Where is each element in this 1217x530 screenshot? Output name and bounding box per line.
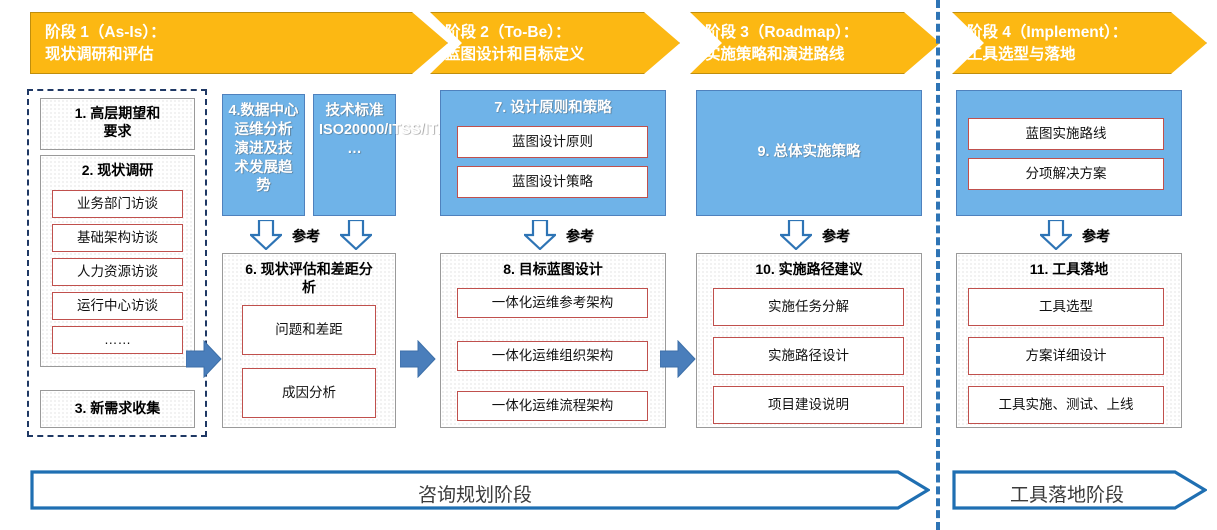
- box-11-title: 11. 工具落地: [957, 254, 1181, 279]
- connector-arrow-1: [186, 340, 222, 378]
- connector-arrow-3: [660, 340, 696, 378]
- box-2-item-3[interactable]: 运行中心访谈: [52, 292, 183, 320]
- box-2-item-2[interactable]: 人力资源访谈: [52, 258, 183, 286]
- box-4: 4.数据中心运维分析演进及技术发展趋势: [222, 94, 305, 216]
- phase-4-line1: 阶段 4（Implement）：: [967, 22, 1206, 44]
- connector-arrow-2: [400, 340, 436, 378]
- box-4-title: 4.数据中心运维分析演进及技术发展趋势: [223, 95, 304, 196]
- ref-down-arrow-col2-left: [250, 220, 282, 250]
- process-diagram: 阶段 1（As-Is）： 现状调研和评估 阶段 2（To-Be）： 蓝图设计和目…: [0, 0, 1217, 530]
- box-6-item-1[interactable]: 成因分析: [242, 368, 376, 418]
- phase-3-line1: 阶段 3（Roadmap）：: [705, 22, 939, 44]
- phase-divider: [936, 0, 940, 530]
- box-6-title: 6. 现状评估和差距分析: [223, 254, 395, 296]
- box-11-item-0[interactable]: 工具选型: [968, 288, 1164, 326]
- ref-label-col5: 参考: [1082, 226, 1110, 246]
- box-10-item-0[interactable]: 实施任务分解: [713, 288, 904, 326]
- box-7-title: 7. 设计原则和策略: [441, 91, 665, 118]
- ref-label-col4: 参考: [822, 226, 850, 246]
- phase-3-line2: 实施策略和演进路线: [705, 44, 939, 66]
- bottom-banner-right-label: 工具落地阶段: [1010, 480, 1124, 507]
- box-10-item-1[interactable]: 实施路径设计: [713, 337, 904, 375]
- phase-2-line1: 阶段 2（To-Be）：: [445, 22, 679, 44]
- ref-down-arrow-col3: [524, 220, 556, 250]
- box-8-item-0[interactable]: 一体化运维参考架构: [457, 288, 648, 318]
- phase-4-line2: 工具选型与落地: [967, 44, 1206, 66]
- box-3: 3. 新需求收集: [40, 390, 195, 428]
- phase-banner-3: 阶段 3（Roadmap）： 实施策略和演进路线: [690, 12, 940, 74]
- box-2-item-0[interactable]: 业务部门访谈: [52, 190, 183, 218]
- ref-down-arrow-col2-right: [340, 220, 372, 250]
- box-blueprint-implementation: [956, 90, 1182, 216]
- box-7-item-0[interactable]: 蓝图设计原则: [457, 126, 648, 158]
- box-6-item-0[interactable]: 问题和差距: [242, 305, 376, 355]
- phase-1-line1: 阶段 1（As-Is）：: [45, 22, 447, 44]
- box-9-title: 9. 总体实施策略: [697, 91, 921, 162]
- box-11-item-1[interactable]: 方案详细设计: [968, 337, 1164, 375]
- phase-banner-4: 阶段 4（Implement）： 工具选型与落地: [952, 12, 1207, 74]
- ref-label-col2: 参考: [292, 226, 320, 246]
- box-2-item-1[interactable]: 基础架构访谈: [52, 224, 183, 252]
- box-8-title: 8. 目标蓝图设计: [441, 254, 665, 279]
- box-1: 1. 高层期望和 要求: [40, 98, 195, 150]
- phase-banner-2: 阶段 2（To-Be）： 蓝图设计和目标定义: [430, 12, 680, 74]
- blueprint-impl-item-0[interactable]: 蓝图实施路线: [968, 118, 1164, 150]
- bottom-banner-left-label: 咨询规划阶段: [418, 480, 532, 507]
- phase-1-line2: 现状调研和评估: [45, 44, 447, 66]
- box-8-item-1[interactable]: 一体化运维组织架构: [457, 341, 648, 371]
- box-1-title: 1. 高层期望和 要求: [41, 99, 194, 140]
- phase-2-line2: 蓝图设计和目标定义: [445, 44, 679, 66]
- box-7-item-1[interactable]: 蓝图设计策略: [457, 166, 648, 198]
- phase-banner-1: 阶段 1（As-Is）： 现状调研和评估: [30, 12, 448, 74]
- box-tech-standards: 技术标准ISO20000/ITSS/ITIL… …: [313, 94, 396, 216]
- box-3-title: 3. 新需求收集: [41, 391, 194, 418]
- box-8-item-2[interactable]: 一体化运维流程架构: [457, 391, 648, 421]
- box-11-item-2[interactable]: 工具实施、测试、上线: [968, 386, 1164, 424]
- tech-standards-title: 技术标准ISO20000/ITSS/ITIL… …: [314, 95, 395, 159]
- box-10-item-2[interactable]: 项目建设说明: [713, 386, 904, 424]
- box-9: 9. 总体实施策略: [696, 90, 922, 216]
- ref-down-arrow-col4: [780, 220, 812, 250]
- blueprint-impl-item-1[interactable]: 分项解决方案: [968, 158, 1164, 190]
- box-10-title: 10. 实施路径建议: [697, 254, 921, 279]
- box-2-item-4[interactable]: ……: [52, 326, 183, 354]
- box-2-title: 2. 现状调研: [41, 156, 194, 180]
- ref-down-arrow-col5: [1040, 220, 1072, 250]
- ref-label-col3: 参考: [566, 226, 594, 246]
